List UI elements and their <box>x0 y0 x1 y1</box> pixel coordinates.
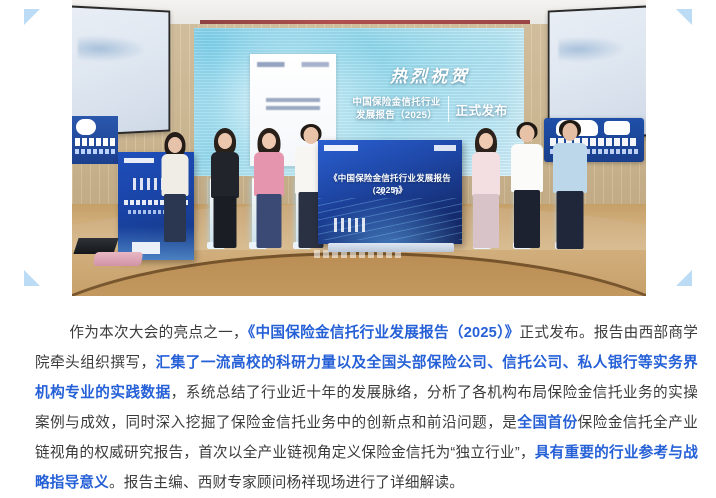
article-container: 热烈祝贺 中国保险金信托行业 发展报告（2025） 正式发布 <box>0 0 716 497</box>
person-guest <box>508 122 546 250</box>
paragraph-text-0: 作为本次大会的亮点之一， <box>69 325 248 341</box>
led-report-title: 中国保险金信托行业 发展报告（2025） <box>352 96 440 122</box>
person-legs <box>557 191 584 249</box>
person-guest <box>207 128 243 250</box>
led-wall-text: 热烈祝贺 中国保险金信托行业 发展报告（2025） 正式发布 <box>342 62 518 122</box>
person-legs <box>214 196 237 248</box>
person-head <box>168 137 182 153</box>
wall-banner-left-text-line1 <box>75 138 115 146</box>
board-stand <box>328 243 454 252</box>
projection-screen-right-content <box>559 35 626 62</box>
article-photo: 热烈祝贺 中国保险金信托行业 发展报告（2025） 正式发布 <box>72 0 646 296</box>
corner-triangle-bottom-left-icon <box>24 270 40 286</box>
led-release-text: 正式发布 <box>456 100 508 119</box>
wall-banner-left-logo <box>76 119 96 135</box>
board-logo-left <box>324 145 358 151</box>
board-city-graphic <box>334 218 368 232</box>
person-legs <box>257 194 282 248</box>
person-legs <box>473 194 499 248</box>
person-head <box>520 125 535 142</box>
person-guest <box>250 128 288 250</box>
report-display-board: 《中国保险金信托行业发展报告(2025)》 发 布 <box>318 140 462 244</box>
wall-banner-left-text-line2 <box>75 149 115 154</box>
corner-triangle-top-right-icon <box>676 9 692 25</box>
podium-logo-left <box>124 158 154 163</box>
wall-banner-right-logo-secondary <box>604 121 630 135</box>
board-logo-right <box>434 145 456 151</box>
paragraph-highlight-5: 全国首份 <box>517 415 577 431</box>
wall-banner-left <box>72 116 118 164</box>
paragraph-highlight-1: 《中国保险金信托行业发展报告（2025）》 <box>248 325 520 341</box>
article-paragraph: 作为本次大会的亮点之一，《中国保险金信托行业发展报告（2025）》正式发布。报告… <box>35 318 698 498</box>
paragraph-text-8: 。报告主编、西财专家顾问杨祥现场进行了详细解读。 <box>109 475 464 491</box>
person-presenter <box>158 132 192 244</box>
person-legs <box>514 190 540 248</box>
person-legs <box>164 194 186 242</box>
corner-triangle-bottom-right-icon <box>676 270 692 286</box>
person-torso <box>211 152 239 198</box>
person-head <box>304 127 319 144</box>
person-torso <box>162 154 189 196</box>
led-book-header <box>257 62 329 67</box>
led-report-title-line1: 中国保险金信托行业 <box>352 96 440 109</box>
photo-scene: 热烈祝贺 中国保险金信托行业 发展报告（2025） 正式发布 <box>72 0 646 296</box>
projection-screen-left-content <box>78 35 147 62</box>
led-book-title-block <box>266 98 320 114</box>
person-head <box>563 123 578 141</box>
person-torso <box>254 152 284 196</box>
led-report-title-line2: 发展报告（2025） <box>352 109 440 122</box>
led-divider <box>448 96 449 122</box>
person-head <box>479 133 493 149</box>
person-torso <box>553 143 587 193</box>
person-guest <box>550 120 590 250</box>
led-congrats-text: 热烈祝贺 <box>342 62 518 87</box>
person-torso <box>472 152 500 196</box>
person-guest <box>468 128 504 250</box>
pink-bag <box>93 252 143 266</box>
corner-triangle-top-left-icon <box>24 9 40 25</box>
person-head <box>262 133 276 149</box>
person-torso <box>511 144 543 192</box>
led-title-row: 中国保险金信托行业 发展报告（2025） 正式发布 <box>342 96 518 122</box>
person-head <box>218 133 232 149</box>
